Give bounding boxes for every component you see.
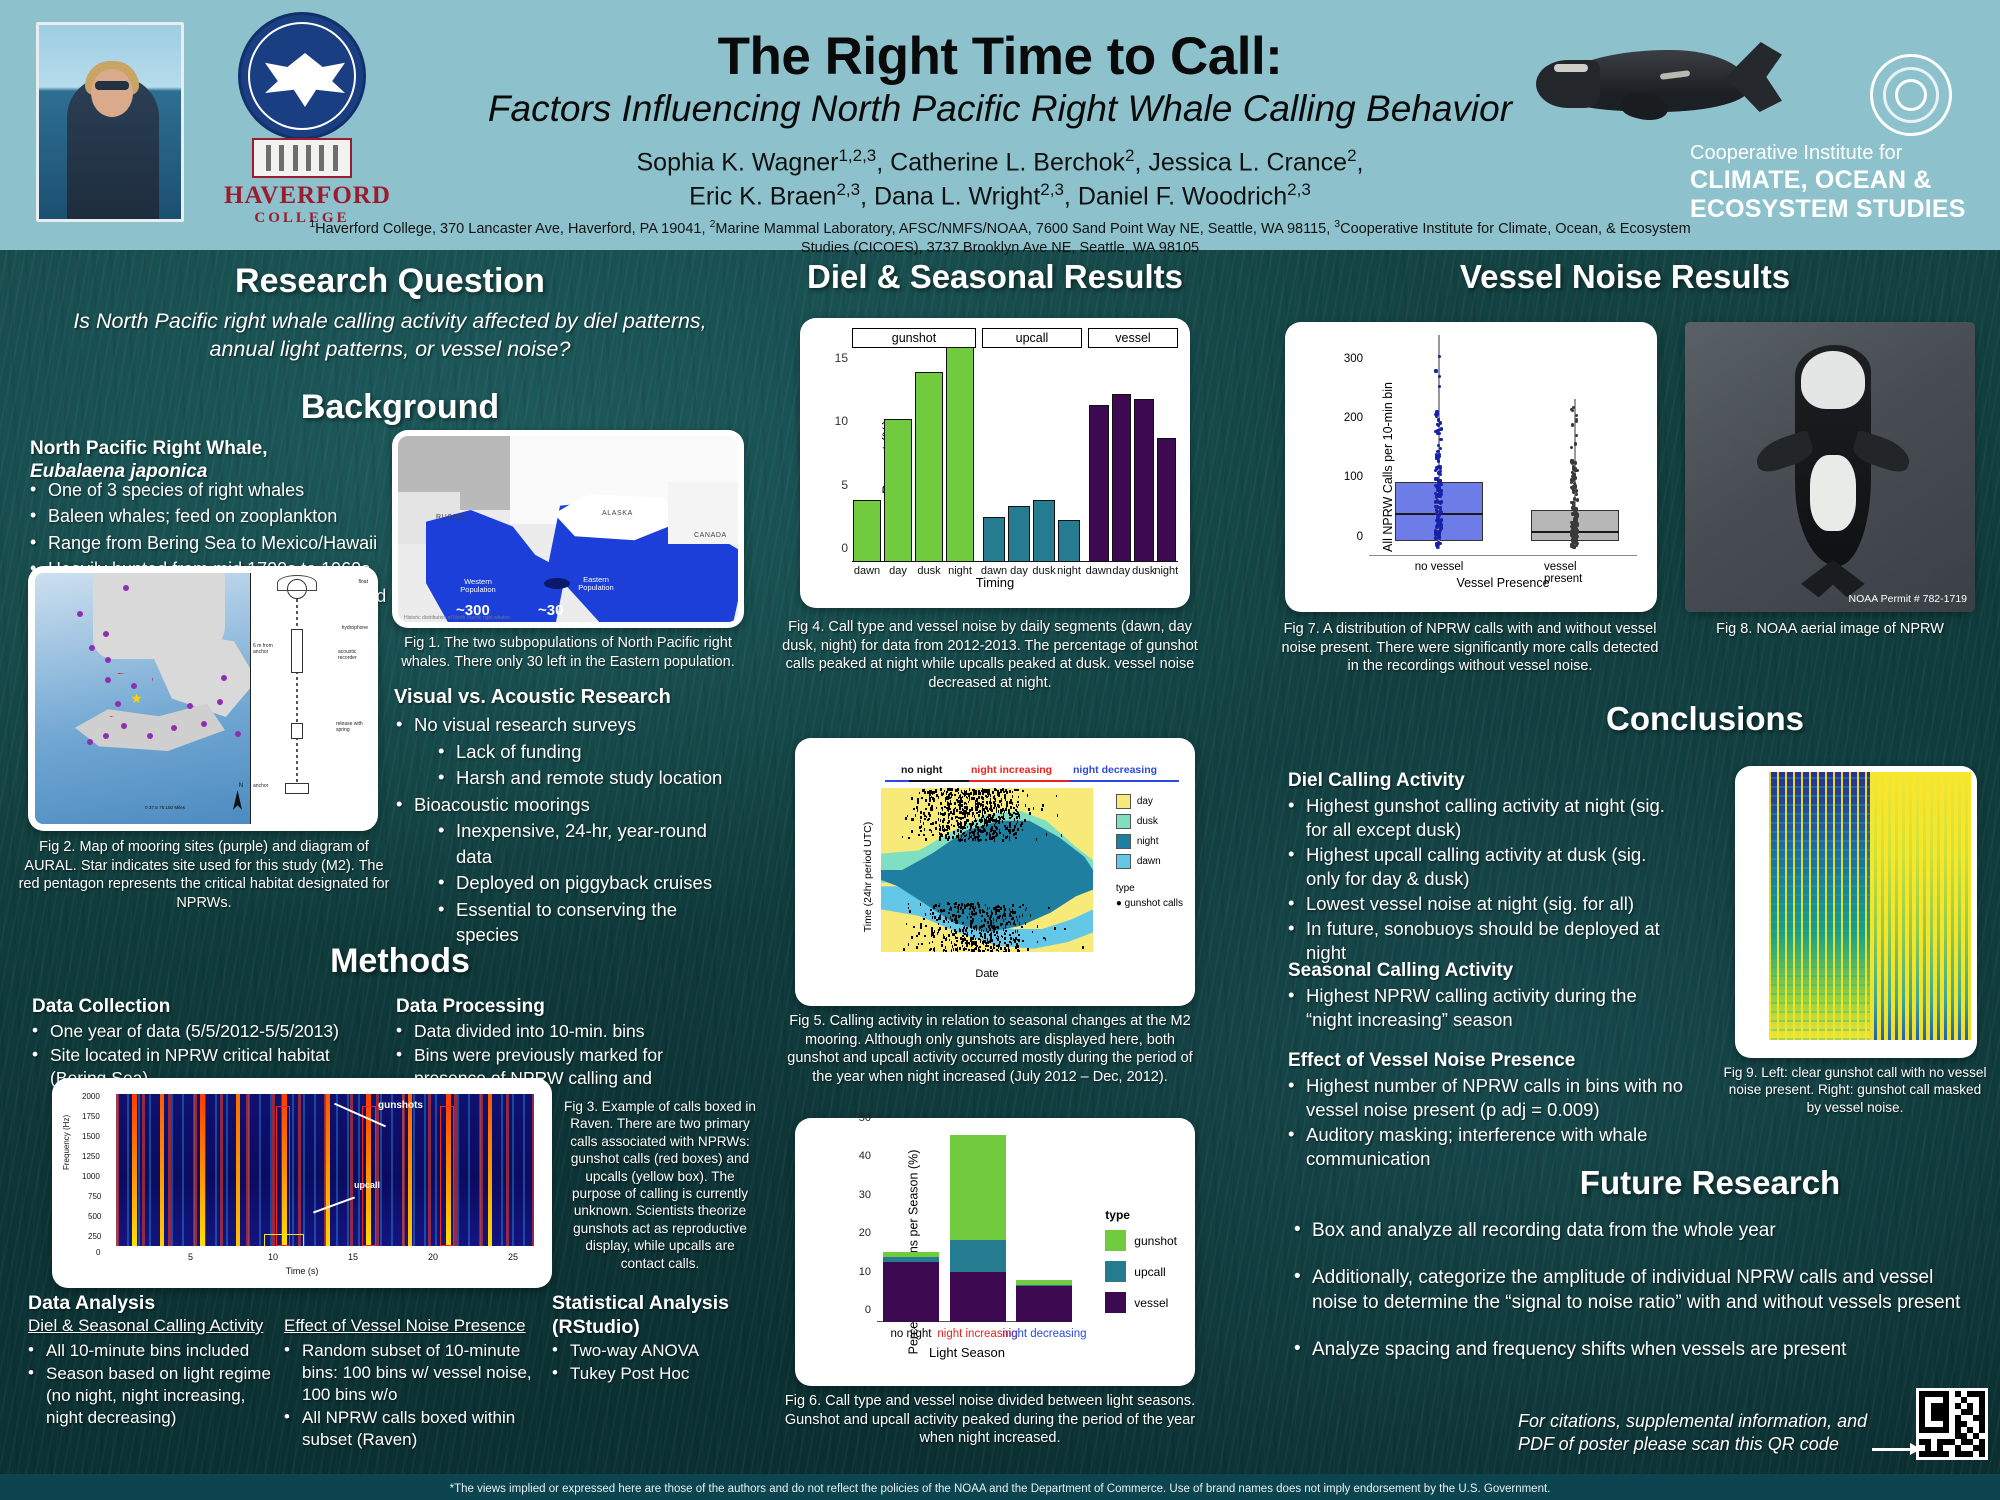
conclusions-list-vessel: Highest number of NPRW calls in bins wit… [1284, 1074, 1694, 1172]
conclusions-list-seasonal: Highest NPRW calling activity during the… [1284, 984, 1684, 1033]
fig4-panel-label-gunshot: gunshot [852, 328, 976, 348]
fig6-plot-area: 01020304050no nightnight increasingnight… [877, 1146, 1057, 1322]
fig7-ytick: 0 [1357, 531, 1363, 543]
section-title-diel-seasonal-results: Diel & Seasonal Results [770, 258, 1220, 296]
fig6-ytick: 30 [859, 1189, 871, 1201]
section-title-background: Background [200, 388, 600, 427]
fig5-type-legend: type● gunshot calls [1116, 883, 1183, 909]
data-analysis-sub2-list: Random subset of 10-minute bins: 100 bin… [280, 1340, 542, 1452]
fig8-permit-text: NOAA Permit # 782-1719 [1849, 593, 1967, 605]
fig3-xlabel: Time (s) [60, 1266, 544, 1276]
fig6-bar-segment [883, 1257, 939, 1262]
legend-label: gunshot [1134, 1234, 1177, 1248]
visual-acoustic-heading: Visual vs. Acoustic Research [394, 686, 734, 709]
list-item: Highest number of NPRW calls in bins wit… [1284, 1074, 1694, 1122]
figure-3-raven-spectrogram: Frequency (Hz) gunshots [52, 1078, 552, 1288]
fig5-legend: daydusknightdawntype● gunshot calls [1116, 794, 1183, 909]
fig4-panel-label-vessel: vessel [1088, 328, 1178, 348]
list-item: Season based on light regime (no night, … [24, 1363, 284, 1429]
fig6-xtick: night decreasing [1002, 1328, 1086, 1340]
data-analysis-sub1-list: All 10-minute bins includedSeason based … [24, 1340, 284, 1430]
fig7-xlabel: Vessel Presence [1369, 576, 1637, 590]
fig7-data-points [1369, 342, 1637, 556]
list-item: Lowest vessel noise at night (sig. for a… [1284, 892, 1684, 916]
list-item: Highest gunshot calling activity at nigh… [1284, 794, 1684, 842]
fig4-bar [983, 517, 1005, 562]
figure-6-caption: Fig 6. Call type and vessel noise divide… [780, 1392, 1200, 1448]
legend-swatch [1116, 814, 1131, 829]
species-common-name: North Pacific Right Whale, [30, 438, 400, 461]
section-title-methods: Methods [270, 942, 530, 981]
list-item: Analyze spacing and frequency shifts whe… [1290, 1337, 1970, 1362]
list-item: Inexpensive, 24-hr, year-round data [434, 818, 742, 869]
author-line-1: Sophia K. Wagner1,2,3, Catherine L. Berc… [330, 145, 1670, 179]
fig6-legend-item: gunshot [1105, 1230, 1177, 1251]
footer-disclaimer: *The views implied or expressed here are… [0, 1483, 2000, 1495]
section-title-vessel-noise-results: Vessel Noise Results [1410, 258, 1840, 296]
qr-arrow-icon [1872, 1448, 1920, 1451]
fig7-plot-area: 0100200300no vesselvessel present [1369, 342, 1637, 556]
list-item: Bioacoustic mooringsInexpensive, 24-hr, … [392, 792, 742, 948]
author-list: Sophia K. Wagner1,2,3, Catherine L. Berc… [330, 145, 1670, 214]
fig6-bar-segment [1016, 1286, 1072, 1322]
poster-canvas: HAVERFORD COLLEGE The Right Time to Call… [0, 0, 2000, 1500]
fig6-ytick: 0 [865, 1304, 871, 1316]
fig3-ylabel: Frequency (Hz) [62, 1115, 71, 1170]
list-item: One of 3 species of right whales [26, 478, 406, 503]
fig4-chart: gunshot upcall vessel Percent (%) 051015… [808, 326, 1182, 600]
species-heading: North Pacific Right Whale, Eubalaena jap… [30, 438, 400, 484]
list-item: Two-way ANOVA [548, 1340, 758, 1362]
list-item: Tukey Post Hoc [548, 1363, 758, 1385]
fig3-plot-area: gunshots upcall [116, 1094, 534, 1246]
conclusions-list-diel: Highest gunshot calling activity at nigh… [1284, 794, 1684, 966]
fig5-chart: no night night increasing night decreasi… [805, 748, 1185, 996]
fig5-season-night-increasing: night increasing [971, 764, 1052, 776]
conclusions-heading-seasonal: Seasonal Calling Activity [1288, 960, 1668, 982]
fig6-legend-item: vessel [1105, 1292, 1177, 1313]
legend-swatch [1105, 1292, 1126, 1313]
fig7-chart: All NPRW Calls per 10-min bin 0100200300… [1295, 332, 1647, 602]
list-item: Additionally, categorize the amplitude o… [1290, 1265, 1970, 1315]
fig6-xtick: no night [891, 1328, 932, 1340]
fig4-ytick: 10 [835, 414, 848, 428]
figure-3-caption: Fig 3. Example of calls boxed in Raven. … [562, 1098, 758, 1272]
cicoes-wordmark: Cooperative Institute for CLIMATE, OCEAN… [1690, 142, 1990, 225]
fig4-plot-area: Percent (%) 051015dawndaydusknightdawnda… [852, 352, 1178, 562]
fig6-bar-segment [950, 1135, 1006, 1240]
fig2-scale-label: 0 37.5 75 150 Miles [145, 805, 185, 810]
list-item: Lack of funding [434, 739, 742, 765]
legend-label: day [1137, 796, 1153, 807]
legend-swatch [1105, 1230, 1126, 1251]
fig5-plot-area: 00:00:0003:00:0006:00:0009:00:0012:00:00… [881, 788, 1093, 952]
list-item: Highest NPRW calling activity during the… [1284, 984, 1684, 1032]
list-item: In future, sonobuoys should be deployed … [1284, 917, 1684, 965]
data-collection-heading: Data Collection [32, 996, 362, 1018]
fig1-note: Historic distribution of North Pacific r… [404, 615, 510, 621]
figure-2-caption: Fig 2. Map of mooring sites (purple) and… [18, 838, 390, 912]
fig6-ytick: 50 [859, 1112, 871, 1124]
legend-swatch [1116, 794, 1131, 809]
fig6-bar-segment [1016, 1280, 1072, 1285]
figure-4-bar-chart: gunshot upcall vessel Percent (%) 051015… [800, 318, 1190, 608]
data-processing-heading: Data Processing [396, 996, 726, 1018]
cicoes-line1: Cooperative Institute for [1690, 142, 1990, 166]
figure-9-spectrogram-comparison [1735, 766, 1977, 1058]
fig4-panel-label-upcall: upcall [982, 328, 1082, 348]
fig5-ylabel: Time (24hr period UTC) [862, 822, 874, 932]
list-item: Data divided into 10-min. bins [392, 1020, 692, 1043]
legend-label: night [1137, 836, 1159, 847]
legend-title: type [1105, 1208, 1177, 1222]
figure-6-stacked-bar: Percent of Total Bins per Season (%) 010… [795, 1118, 1195, 1386]
cicoes-logo-icon [1870, 54, 1952, 136]
statistical-analysis-list: Two-way ANOVATukey Post Hoc [548, 1340, 758, 1386]
legend-item: ● gunshot calls [1116, 898, 1183, 909]
poster-header: HAVERFORD COLLEGE The Right Time to Call… [0, 0, 2000, 250]
figure-2-mooring-map: N 0 37.5 75 150 Miles float hydrophone a… [28, 566, 378, 831]
figure-1-caption: Fig 1. The two subpopulations of North P… [388, 634, 748, 671]
poster-subtitle: Factors Influencing North Pacific Right … [300, 88, 1700, 130]
fig4-bar [1089, 405, 1109, 562]
fig5-legend-item: dusk [1116, 814, 1183, 829]
figure-1-subpopulation-map: RUSSIA ALASKA CANADA WesternPopulation ~… [392, 430, 744, 628]
fig4-ytick: 5 [841, 478, 848, 492]
fig5-season-night-decreasing: night decreasing [1073, 764, 1157, 776]
legend-swatch [1105, 1261, 1126, 1282]
list-item: No visual research surveysLack of fundin… [392, 712, 742, 791]
research-question-text: Is North Pacific right whale calling act… [40, 308, 740, 363]
list-item: Baleen whales; feed on zooplankton [26, 504, 406, 529]
list-item: Deployed on piggyback cruises [434, 870, 742, 896]
fig6-bar-segment [883, 1262, 939, 1322]
figure-8-caption: Fig 8. NOAA aerial image of NPRW [1685, 620, 1975, 639]
fig4-ytick: 0 [841, 541, 848, 555]
fig5-legend-item: day [1116, 794, 1183, 809]
fig6-ytick: 40 [859, 1150, 871, 1162]
qr-code[interactable] [1916, 1388, 1988, 1460]
fig4-bar [1157, 438, 1177, 562]
fig6-ytick: 20 [859, 1227, 871, 1239]
fig2-aural-diagram: float hydrophone acoustic recorder 6 m f… [250, 573, 371, 824]
data-analysis-heading: Data Analysis [28, 1292, 328, 1315]
fig5-legend-item: night [1116, 834, 1183, 849]
poster-title: The Right Time to Call: [330, 26, 1670, 87]
fig7-ytick: 200 [1344, 412, 1363, 424]
fig4-bar [884, 419, 912, 562]
figure-5-caption: Fig 5. Calling activity in relation to s… [780, 1012, 1200, 1086]
legend-swatch [1116, 834, 1131, 849]
fig6-chart: Percent of Total Bins per Season (%) 010… [805, 1128, 1185, 1376]
right-whale-illustration-icon [1530, 28, 1780, 133]
fig3-annotation-upcall: upcall [354, 1180, 380, 1190]
fig4-bar [946, 347, 974, 562]
list-item: Range from Bering Sea to Mexico/Hawaii [26, 531, 406, 556]
fig7-xtick: no vessel [1415, 561, 1464, 573]
fig4-bar [1008, 506, 1030, 562]
fig4-ytick: 15 [835, 351, 848, 365]
data-analysis-sub1-heading: Diel & Seasonal Calling Activity [28, 1316, 278, 1336]
conclusions-heading-diel: Diel Calling Activity [1288, 770, 1668, 792]
legend-label: upcall [1134, 1265, 1165, 1279]
list-item: Box and analyze all recording data from … [1290, 1218, 1970, 1243]
figure-4-caption: Fig 4. Call type and vessel noise by dai… [780, 618, 1200, 692]
qr-instruction-text: For citations, supplemental information,… [1518, 1410, 1888, 1457]
figure-9-caption: Fig 9. Left: clear gunshot call with no … [1720, 1064, 1990, 1116]
figure-5-seasonal-scatter: no night night increasing night decreasi… [795, 738, 1195, 1006]
author-photo [36, 22, 184, 222]
fig4-xlabel: Timing [808, 575, 1182, 590]
list-item: One year of data (5/5/2012-5/5/2013) [28, 1020, 368, 1043]
fig4-bar [1033, 500, 1055, 562]
fig6-legend: typegunshotupcallvessel [1105, 1208, 1177, 1323]
fig4-bar [853, 500, 881, 562]
fig6-xlabel: Light Season [877, 1345, 1057, 1360]
list-item: All 10-minute bins included [24, 1340, 284, 1362]
section-title-future-research: Future Research [1530, 1164, 1890, 1202]
list-item: Harsh and remote study location [434, 765, 742, 791]
legend-title: type [1116, 883, 1183, 894]
fig4-bar [1134, 399, 1154, 562]
legend-label: vessel [1134, 1296, 1168, 1310]
figure-7-boxplot: All NPRW Calls per 10-min bin 0100200300… [1285, 322, 1657, 612]
fig6-bar-segment [950, 1240, 1006, 1273]
cicoes-line3: ECOSYSTEM STUDIES [1690, 195, 1990, 225]
legend-swatch [1116, 854, 1131, 869]
fig4-bar [1058, 520, 1080, 562]
fig4-bar [1112, 394, 1132, 562]
fig2-map: N 0 37.5 75 150 Miles [35, 573, 250, 824]
future-research-list: Box and analyze all recording data from … [1290, 1218, 1970, 1384]
fig7-ytick: 100 [1344, 471, 1363, 483]
fig6-bar-segment [1016, 1285, 1072, 1286]
section-title-research-question: Research Question [170, 262, 610, 301]
list-item: All NPRW calls boxed within subset (Rave… [280, 1407, 542, 1451]
fig6-legend-item: upcall [1105, 1261, 1177, 1282]
fig6-bar-segment [950, 1272, 1006, 1322]
affiliations: 1Haverford College, 370 Lancaster Ave, H… [300, 218, 1700, 259]
statistical-analysis-heading: Statistical Analysis (RStudio) [552, 1292, 752, 1340]
legend-label: dawn [1137, 856, 1161, 867]
author-line-2: Eric K. Braen2,3, Dana L. Wright2,3, Dan… [330, 179, 1670, 213]
section-title-conclusions: Conclusions [1520, 700, 1890, 738]
list-item: Highest upcall calling activity at dusk … [1284, 843, 1684, 891]
figure-7-caption: Fig 7. A distribution of NPRW calls with… [1275, 620, 1665, 676]
fig5-season-no-night: no night [901, 764, 942, 776]
fig3-annotation-gunshots: gunshots [378, 1100, 423, 1111]
visual-acoustic-list: No visual research surveysLack of fundin… [392, 712, 742, 949]
fig6-bar-segment [883, 1252, 939, 1257]
fig6-ytick: 10 [859, 1266, 871, 1278]
data-analysis-sub2-heading: Effect of Vessel Noise Presence [284, 1316, 544, 1336]
list-item: Random subset of 10-minute bins: 100 bin… [280, 1340, 542, 1406]
figure-8-aerial-photo: NOAA Permit # 782-1719 [1685, 322, 1975, 612]
list-item: Essential to conserving the species [434, 897, 742, 948]
fig5-xlabel: Date [881, 968, 1093, 980]
cicoes-line2: CLIMATE, OCEAN & [1690, 166, 1990, 196]
fig5-legend-item: dawn [1116, 854, 1183, 869]
fig7-ytick: 300 [1344, 353, 1363, 365]
conclusions-heading-vessel: Effect of Vessel Noise Presence [1288, 1050, 1668, 1072]
legend-label: dusk [1137, 816, 1158, 827]
fig4-bar [915, 372, 943, 562]
